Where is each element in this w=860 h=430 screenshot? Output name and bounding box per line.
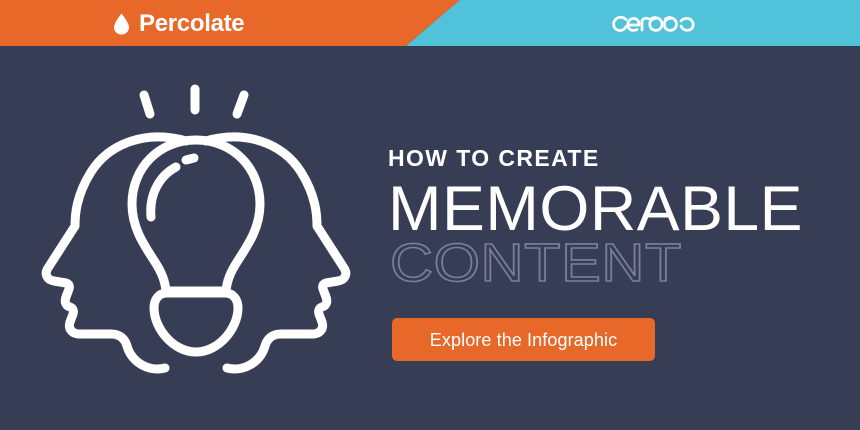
explore-infographic-button[interactable]: Explore the Infographic (392, 318, 655, 361)
subheadline-content: CONTENT (388, 236, 688, 290)
eyebrow-text: HOW TO CREATE (388, 146, 828, 171)
subheadline-text: CONTENT (390, 236, 682, 290)
ceros-logo[interactable] (608, 11, 708, 36)
header-bar: Percolate (0, 0, 860, 46)
idea-rays-icon (144, 89, 244, 114)
headline-memorable: MEMORABLE (388, 177, 808, 239)
water-drop-icon (113, 13, 130, 35)
percolate-wordmark: Percolate (139, 12, 244, 36)
promo-banner: Percolate (0, 0, 860, 430)
cta-button-label: Explore the Infographic (430, 330, 617, 350)
headline-group: HOW TO CREATE MEMORABLE CONTENT (388, 146, 828, 171)
headline-text: MEMORABLE (388, 177, 803, 239)
two-heads-lightbulb-illustration (28, 82, 364, 382)
percolate-logo[interactable]: Percolate (113, 11, 244, 37)
